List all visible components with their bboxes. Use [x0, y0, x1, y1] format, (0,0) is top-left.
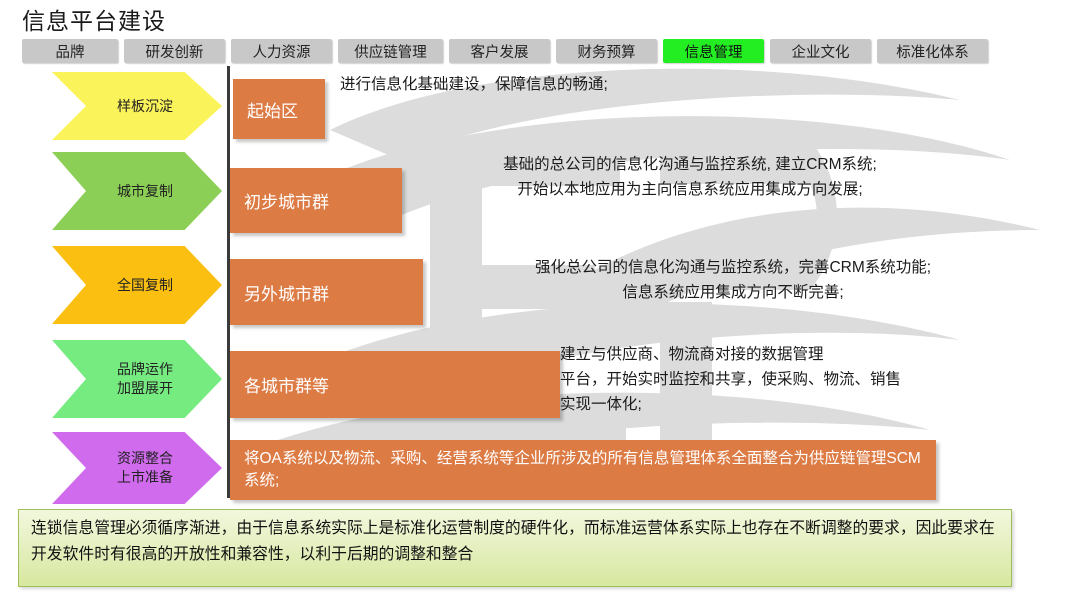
stage-chevron-label-1: 样板沉淀 [117, 97, 173, 116]
tab-6[interactable]: 财务预算 [556, 39, 657, 63]
tab-9[interactable]: 标准化体系 [877, 39, 988, 63]
tab-bar: 品牌研发创新人力资源供应链管理客户发展财务预算信息管理企业文化标准化体系 [22, 39, 988, 63]
stage-box-3[interactable]: 另外城市群 [230, 259, 423, 325]
tab-5[interactable]: 客户发展 [449, 39, 550, 63]
stage-box-4[interactable]: 各城市群等 [230, 351, 560, 418]
stage-chevron-1[interactable]: 样板沉淀 [52, 72, 222, 140]
stage-chevron-4[interactable]: 品牌运作 加盟展开 [52, 340, 222, 418]
stage-chevron-5[interactable]: 资源整合 上市准备 [52, 432, 222, 504]
stage-description-4: 建立与供应商、物流商对接的数据管理 平台，开始实时监控和共享，使采购、物流、销售… [560, 342, 1060, 417]
tab-8[interactable]: 企业文化 [770, 39, 871, 63]
tab-7[interactable]: 信息管理 [663, 39, 764, 63]
stage-description-3: 强化总公司的信息化沟通与监控系统，完善CRM系统功能; 信息系统应用集成方向不断… [448, 255, 1018, 305]
stage-description-2: 基础的总公司的信息化沟通与监控系统, 建立CRM系统; 开始以本地应用为主向信息… [410, 152, 970, 202]
summary-box: 连锁信息管理必须循序渐进，由于信息系统实际上是标准化运营制度的硬件化，而标准运营… [18, 509, 1012, 587]
stage-box-2[interactable]: 初步城市群 [230, 168, 402, 233]
tab-4[interactable]: 供应链管理 [338, 39, 443, 63]
stage-box-5[interactable]: 将OA系统以及物流、采购、经营系统等企业所涉及的所有信息管理体系全面整合为供应链… [230, 440, 936, 500]
stage-box-1[interactable]: 起始区 [233, 79, 325, 139]
stage-chevron-label-5: 资源整合 上市准备 [117, 449, 173, 487]
stage-chevron-2[interactable]: 城市复制 [52, 152, 222, 230]
stage-description-1: 进行信息化基础建设，保障信息的畅通; [340, 72, 940, 97]
tab-2[interactable]: 研发创新 [124, 39, 225, 63]
tab-1[interactable]: 品牌 [22, 39, 118, 63]
stage-chevron-label-2: 城市复制 [117, 182, 173, 201]
stage-chevron-3[interactable]: 全国复制 [52, 246, 222, 324]
slide-canvas: 信息平台建设 品牌研发创新人力资源供应链管理客户发展财务预算信息管理企业文化标准… [0, 0, 1080, 596]
page-title: 信息平台建设 [22, 2, 166, 36]
tab-3[interactable]: 人力资源 [231, 39, 332, 63]
stage-chevron-label-3: 全国复制 [117, 276, 173, 295]
stage-chevron-label-4: 品牌运作 加盟展开 [117, 360, 173, 398]
